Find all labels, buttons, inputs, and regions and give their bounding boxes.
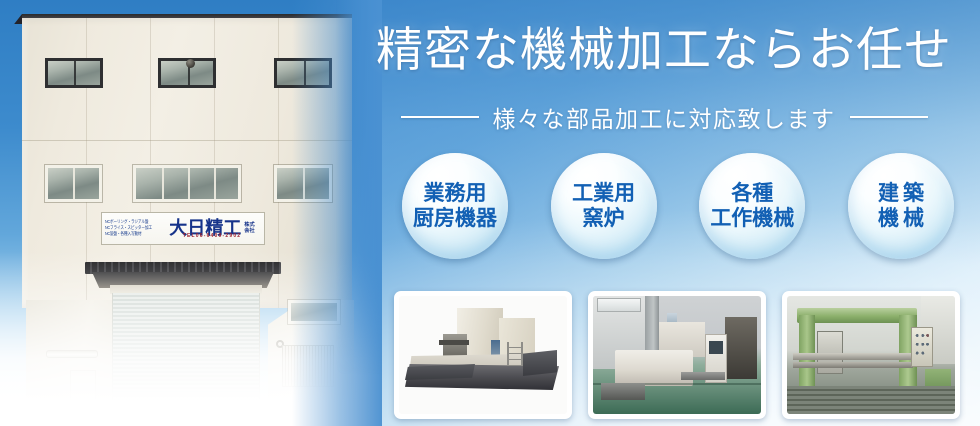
hero-headline: 精密な機械加工ならお任せ xyxy=(374,26,954,77)
company-building-photo: NCボーリング・ラジアル盤 NCフライス・スピッター加工 NC旋盤・各種入写動材… xyxy=(0,0,382,426)
machine-spindle-head xyxy=(443,334,467,356)
gantry-rail-upper xyxy=(793,353,913,360)
facade-vent xyxy=(186,59,195,68)
factory-background-machine xyxy=(725,317,757,378)
machine-spindle xyxy=(439,340,469,345)
control-panel-buttons xyxy=(914,330,930,364)
category-circle-construction[interactable]: 建築 機械 xyxy=(848,153,954,259)
window-upper-left xyxy=(45,58,103,88)
category-circle-machine-tools[interactable]: 各種 工作機械 xyxy=(699,153,805,259)
machine-control-box xyxy=(491,340,500,356)
gantry-rail-lower xyxy=(793,362,913,368)
category-line1: 業務用 xyxy=(424,181,487,206)
photo-inner xyxy=(593,296,761,414)
signboard-tel: TEL06-6409-2902 xyxy=(163,233,261,239)
floor-cart xyxy=(601,383,645,400)
rule-right xyxy=(850,116,928,118)
signboard-service-3: NC旋盤・各種入写動材 xyxy=(105,231,163,238)
company-signboard: NCボーリング・ラジアル盤 NCフライス・スピッター加工 NC旋盤・各種入写動材… xyxy=(101,212,265,245)
rule-left xyxy=(401,116,479,118)
machine-screen xyxy=(709,341,723,354)
category-line1: 建築 xyxy=(874,181,928,206)
category-line2: 機械 xyxy=(874,206,928,231)
window-lower-left xyxy=(45,165,102,202)
category-line2: 工作機械 xyxy=(710,206,794,231)
photo-inner xyxy=(787,296,955,414)
gantry-bed-table xyxy=(787,386,955,414)
machine-body xyxy=(615,350,693,385)
category-line2: 窯炉 xyxy=(583,206,625,231)
photo-cnc-boring-machine[interactable] xyxy=(394,291,572,419)
hero-subheadline: 様々な部品加工に対応致します xyxy=(493,100,836,134)
window-lower-center xyxy=(133,165,241,202)
category-line2: 厨房機器 xyxy=(413,206,497,231)
gantry-control-panel xyxy=(911,327,933,367)
category-circles: 業務用 厨房機器 工業用 窯炉 各種 工作機械 建築 機械 xyxy=(402,152,954,260)
machine-photo-row xyxy=(394,291,960,421)
machine-worktable xyxy=(681,372,725,380)
hero-subheadline-row: 様々な部品加工に対応致します xyxy=(374,100,954,134)
factory-window xyxy=(597,298,641,312)
photo-inner xyxy=(399,296,567,414)
photo-gantry-machine[interactable] xyxy=(782,291,960,419)
signboard-services: NCボーリング・ラジアル盤 NCフライス・スピッター加工 NC旋盤・各種入写動材 xyxy=(105,220,163,238)
machine-pallet xyxy=(523,350,557,376)
machine-ladder xyxy=(507,342,523,366)
category-circle-kitchen[interactable]: 業務用 厨房機器 xyxy=(402,153,508,259)
photo-factory-interior[interactable] xyxy=(588,291,766,419)
category-line1: 各種 xyxy=(731,181,773,206)
category-line1: 工業用 xyxy=(572,181,635,206)
gantry-post-left xyxy=(799,315,815,388)
signboard-main: 大日精工 株式 会社 TEL06-6409-2902 xyxy=(163,220,261,238)
category-circle-kiln[interactable]: 工業用 窯炉 xyxy=(551,153,657,259)
hero-banner: NCボーリング・ラジアル盤 NCフライス・スピッター加工 NC旋盤・各種入写動材… xyxy=(0,0,980,426)
